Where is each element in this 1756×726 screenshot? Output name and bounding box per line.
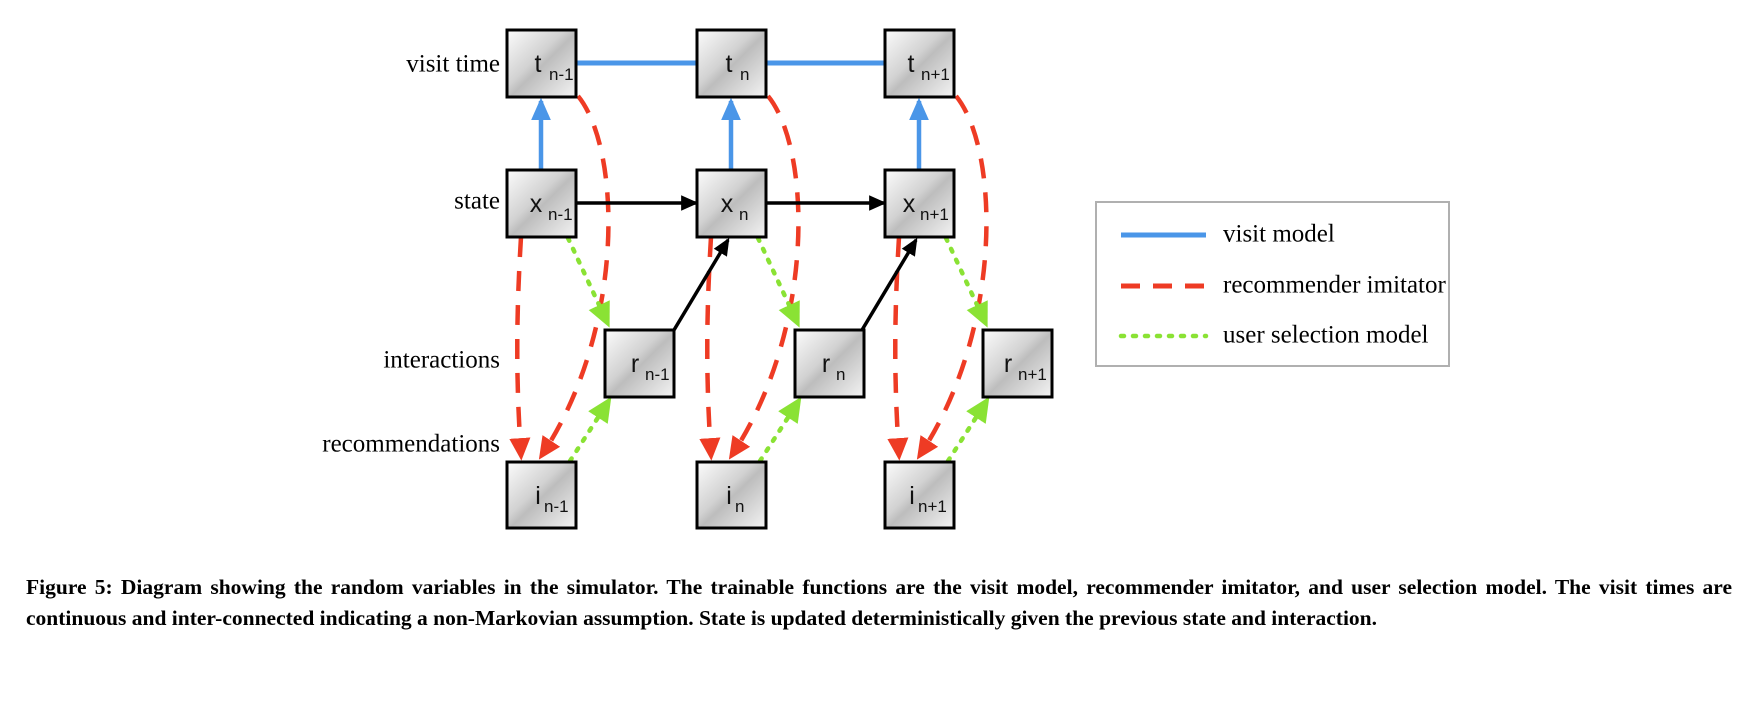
node-i-n[interactable]: i n [697,462,766,528]
node-x-n+1[interactable]: x n+1 [885,170,954,237]
node-i-n+1-subscript: n+1 [918,497,947,516]
row-label-recommendations: recommendations [322,431,500,458]
node-i-n+1[interactable]: i n+1 [885,462,954,528]
node-r-n+1-label: r [1004,350,1012,378]
node-x-n+1-label: x [903,190,916,218]
edge-i-n+1--r-n+1 [948,402,986,461]
node-r-n-1-label: r [631,350,639,378]
edge-t-n-1--i-n-1 [542,96,608,455]
node-i-n+1-label: i [909,482,915,510]
node-t-n-subscript: n [740,65,749,84]
legend-label-user-selection-model: user selection model [1223,322,1429,349]
node-t-n+1-subscript: n+1 [921,65,950,84]
node-t-n+1[interactable]: t n+1 [885,30,954,97]
edge-r-n-1--x-n [674,240,728,330]
node-box [885,170,954,237]
node-i-n-1-subscript: n-1 [544,497,569,516]
edge-t-n--i-n [732,96,798,455]
node-box [885,30,954,97]
edge-x-n-1--i-n-1 [517,237,521,455]
node-box [507,30,576,97]
node-box [507,462,576,528]
node-x-n[interactable]: x n [697,170,766,237]
node-r-n+1[interactable]: r n+1 [983,330,1052,397]
figure-caption: Figure 5: Diagram showing the random var… [26,572,1732,634]
legend: visit model recommender imitator user se… [1096,202,1449,366]
legend-label-recommender-imitator: recommender imitator [1223,272,1447,299]
row-labels: visit time state interactions recommenda… [322,51,500,458]
node-t-n-1-subscript: n-1 [549,65,574,84]
row-label-interactions: interactions [383,347,500,374]
legend-label-visit-model: visit model [1223,221,1335,248]
node-box [605,330,674,397]
edge-i-n--r-n [760,402,798,461]
node-x-n-1-label: x [530,190,543,218]
node-box [983,330,1052,397]
node-i-n-label: i [726,482,732,510]
node-r-n-subscript: n [836,365,845,384]
edge-t-n+1--i-n+1 [920,96,986,455]
node-i-n-subscript: n [735,497,744,516]
node-t-n+1-label: t [908,50,915,78]
node-x-n-subscript: n [739,205,748,224]
node-r-n+1-subscript: n+1 [1018,365,1047,384]
node-i-n-1[interactable]: i n-1 [507,462,576,528]
node-t-n-1[interactable]: t n-1 [507,30,576,97]
edge-i-n-1--r-n-1 [570,402,608,461]
node-r-n-1[interactable]: r n-1 [605,330,674,397]
node-r-n[interactable]: r n [795,330,864,397]
node-r-n-label: r [822,350,830,378]
node-t-n-label: t [726,50,733,78]
row-label-state: state [454,188,500,215]
node-x-n+1-subscript: n+1 [920,205,949,224]
node-i-n-1-label: i [535,482,541,510]
node-t-n[interactable]: t n [697,30,766,97]
row-label-visit-time: visit time [406,51,500,78]
node-r-n-1-subscript: n-1 [645,365,670,384]
node-t-n-1-label: t [535,50,542,78]
edge-r-n--x-n+1 [862,240,916,330]
node-x-n-1[interactable]: x n-1 [507,170,576,237]
node-x-n-1-subscript: n-1 [548,205,573,224]
figure-5: visit time state interactions recommenda… [0,0,1756,726]
node-x-n-label: x [721,190,734,218]
node-box [885,462,954,528]
edge-group-recommender-imitator [517,96,986,455]
